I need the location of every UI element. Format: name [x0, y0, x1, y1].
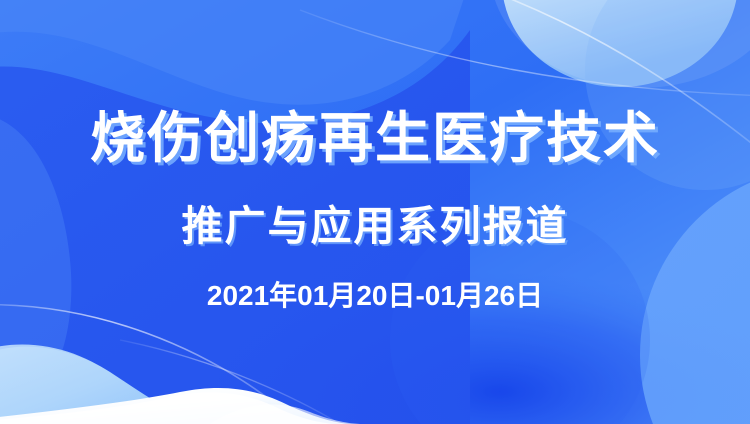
banner-content: 烧伤创疡再生医疗技术 推广与应用系列报道 2021年01月20日-01月26日 [0, 0, 750, 424]
promo-banner: 烧伤创疡再生医疗技术 推广与应用系列报道 2021年01月20日-01月26日 [0, 0, 750, 424]
banner-title-main: 烧伤创疡再生医疗技术 [0, 100, 750, 176]
banner-title-sub: 推广与应用系列报道 [0, 199, 750, 253]
banner-date-range: 2021年01月20日-01月26日 [0, 278, 750, 314]
